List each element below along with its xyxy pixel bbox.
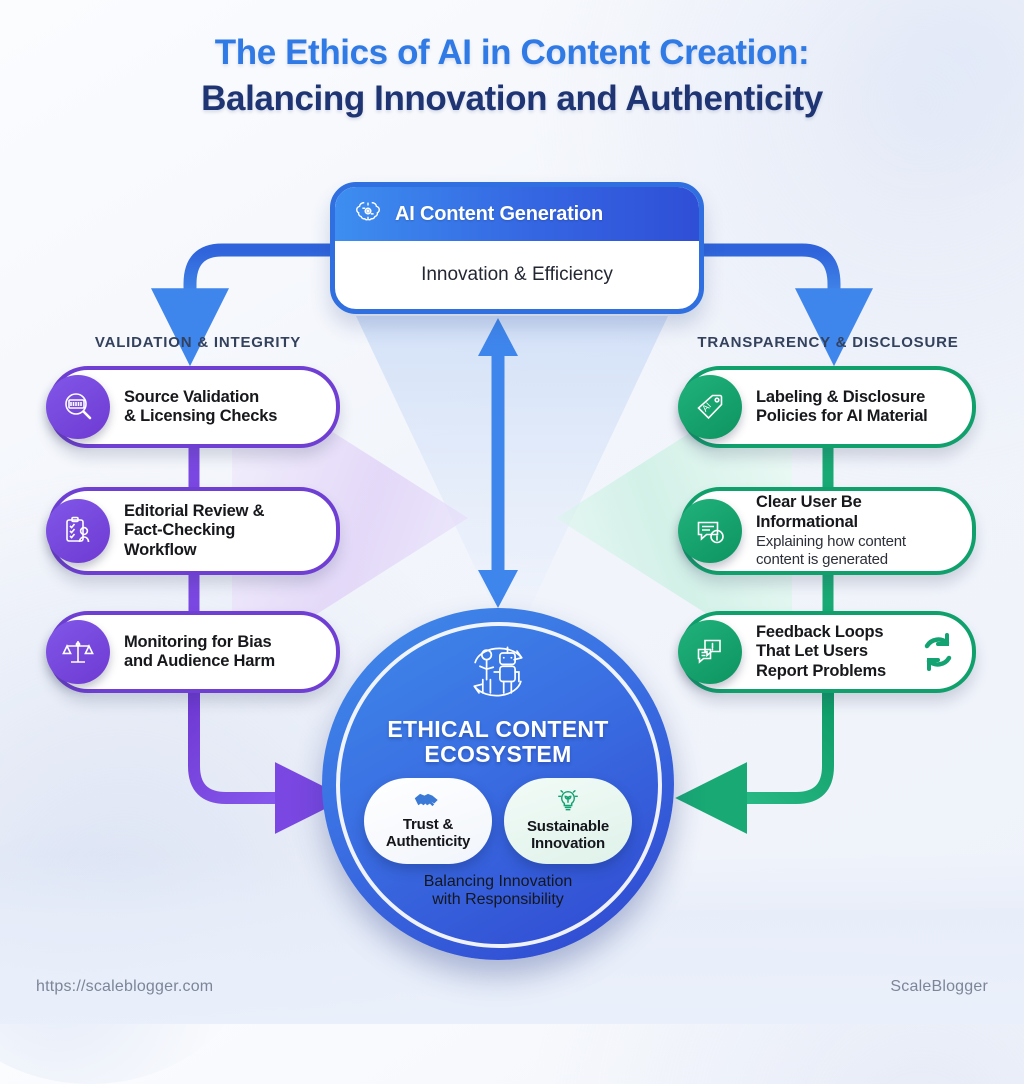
section-header-validation: VALIDATION & INTEGRITY xyxy=(48,334,348,351)
chat-info-icon xyxy=(678,499,742,563)
infographic-canvas: The Ethics of AI in Content Creation: Ba… xyxy=(0,0,1024,1024)
card-line-2: Policies for AI Material xyxy=(756,407,928,425)
ai-tag-icon: AI xyxy=(678,375,742,439)
card-line-2: and Audience Harm xyxy=(124,652,275,670)
circle-inner-ring xyxy=(336,622,662,948)
clipboard-reviewer-icon xyxy=(46,499,110,563)
card-feedback-loops-text: Feedback Loops That Let Users Report Pro… xyxy=(742,623,912,681)
card-labeling-disclosure[interactable]: AI Labeling & Disclosure Policies for AI… xyxy=(680,366,976,448)
card-feedback-loops[interactable]: Feedback Loops That Let Users Report Pro… xyxy=(680,611,976,693)
card-line-1: Feedback Loops xyxy=(756,623,883,641)
card-line-2: Fact-Checking xyxy=(124,521,235,539)
top-card-subtitle: Innovation & Efficiency xyxy=(335,241,699,309)
card-line-3: Workflow xyxy=(124,541,196,559)
top-card-title: AI Content Generation xyxy=(395,203,603,226)
center-ethical-content-ecosystem[interactable]: ETHICAL CONTENT ECOSYSTEM Trust & Authen… xyxy=(322,608,674,960)
card-monitoring-bias-text: Monitoring for Bias and Audience Harm xyxy=(110,633,336,672)
card-line-1: Monitoring for Bias xyxy=(124,633,271,651)
card-source-validation[interactable]: Source Validation & Licensing Checks xyxy=(48,366,340,448)
card-sub-line-1: Explaining how content xyxy=(756,533,962,550)
top-card-ai-content-generation[interactable]: AI Content Generation Innovation & Effic… xyxy=(330,182,704,314)
card-line-1: Clear User Be xyxy=(756,493,862,511)
card-source-validation-text: Source Validation & Licensing Checks xyxy=(110,388,336,427)
card-line-1: Editorial Review & xyxy=(124,502,264,520)
card-clear-user-informational-text: Clear User Be Informational Explaining h… xyxy=(742,493,972,569)
card-editorial-review-text: Editorial Review & Fact-Checking Workflo… xyxy=(110,502,336,560)
top-card-header: AI Content Generation xyxy=(335,187,699,241)
brain-circuit-icon xyxy=(353,197,383,232)
card-line-2: That Let Users xyxy=(756,642,868,660)
refresh-cycle-icon xyxy=(912,630,964,674)
balance-scales-icon xyxy=(46,620,110,684)
connector-center-double-arrow xyxy=(478,318,518,608)
card-labeling-disclosure-text: Labeling & Disclosure Policies for AI Ma… xyxy=(742,388,972,427)
section-header-transparency: TRANSPARENCY & DISCLOSURE xyxy=(678,334,978,351)
card-line-3: Report Problems xyxy=(756,662,886,680)
card-clear-user-informational[interactable]: Clear User Be Informational Explaining h… xyxy=(680,487,976,575)
card-editorial-review[interactable]: Editorial Review & Fact-Checking Workflo… xyxy=(48,487,340,575)
card-line-2: & Licensing Checks xyxy=(124,407,277,425)
card-line-1: Labeling & Disclosure xyxy=(756,388,925,406)
footer-brand: ScaleBlogger xyxy=(890,978,988,996)
card-sub-line-2: content is generated xyxy=(756,551,962,568)
card-line-2: Informational xyxy=(756,513,858,531)
footer-url[interactable]: https://scaleblogger.com xyxy=(36,978,213,996)
card-line-1: Source Validation xyxy=(124,388,259,406)
connector-top-to-left xyxy=(190,250,330,322)
card-monitoring-bias[interactable]: Monitoring for Bias and Audience Harm xyxy=(48,611,340,693)
connector-top-to-right xyxy=(694,250,834,322)
magnifier-license-icon xyxy=(46,375,110,439)
chat-alert-icon xyxy=(678,620,742,684)
